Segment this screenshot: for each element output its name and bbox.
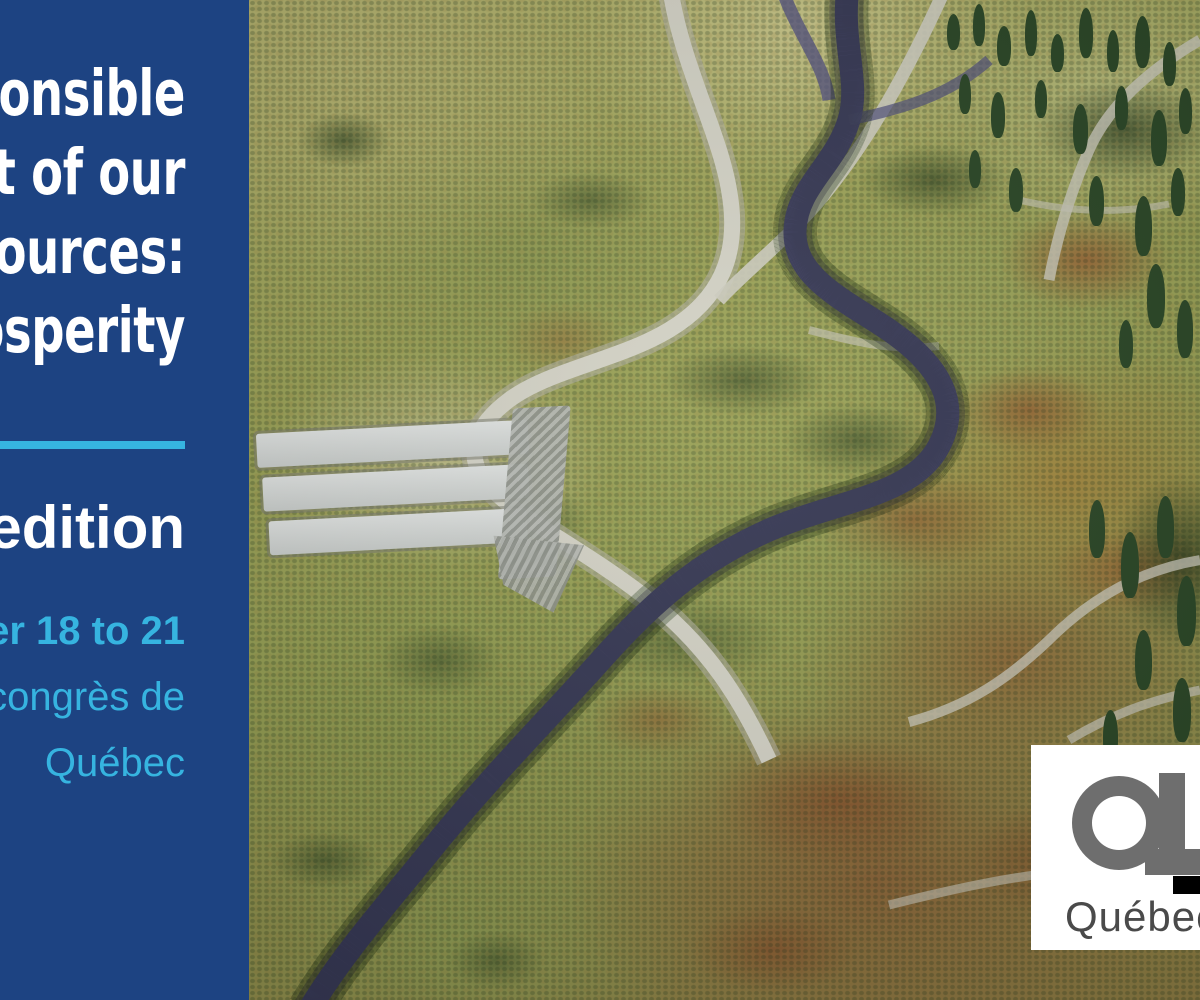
accent-rule [0,441,185,449]
venue-block: November 18 to 21 Centre des congrès de … [0,598,185,796]
headline-line-3: natural resources: [0,212,185,291]
q-glyph-icon [1063,767,1200,875]
headline-line-1: Responsible [0,54,185,133]
edition-block: 18th edition [0,491,185,565]
banner: Responsible development of our natural r… [0,0,1200,1000]
title-panel: Responsible development of our natural r… [0,0,249,1000]
headline-line-4: shared prosperity [0,291,185,370]
venue-line-1: Centre des congrès de [0,664,185,730]
event-dates: November 18 to 21 [0,598,185,664]
headline-line-2: development of our [0,133,185,212]
gouvernement-du-quebec-logo: Québec [1031,745,1200,950]
edition-line: 18th edition [0,491,185,565]
quebec-logo-square-accent [1173,876,1200,894]
quebec-wordmark: Québec [1065,893,1200,941]
headline-block: Responsible development of our natural r… [0,54,185,370]
venue-line-2: Québec [0,730,185,796]
quebec-q-mark-icon [1063,767,1200,875]
